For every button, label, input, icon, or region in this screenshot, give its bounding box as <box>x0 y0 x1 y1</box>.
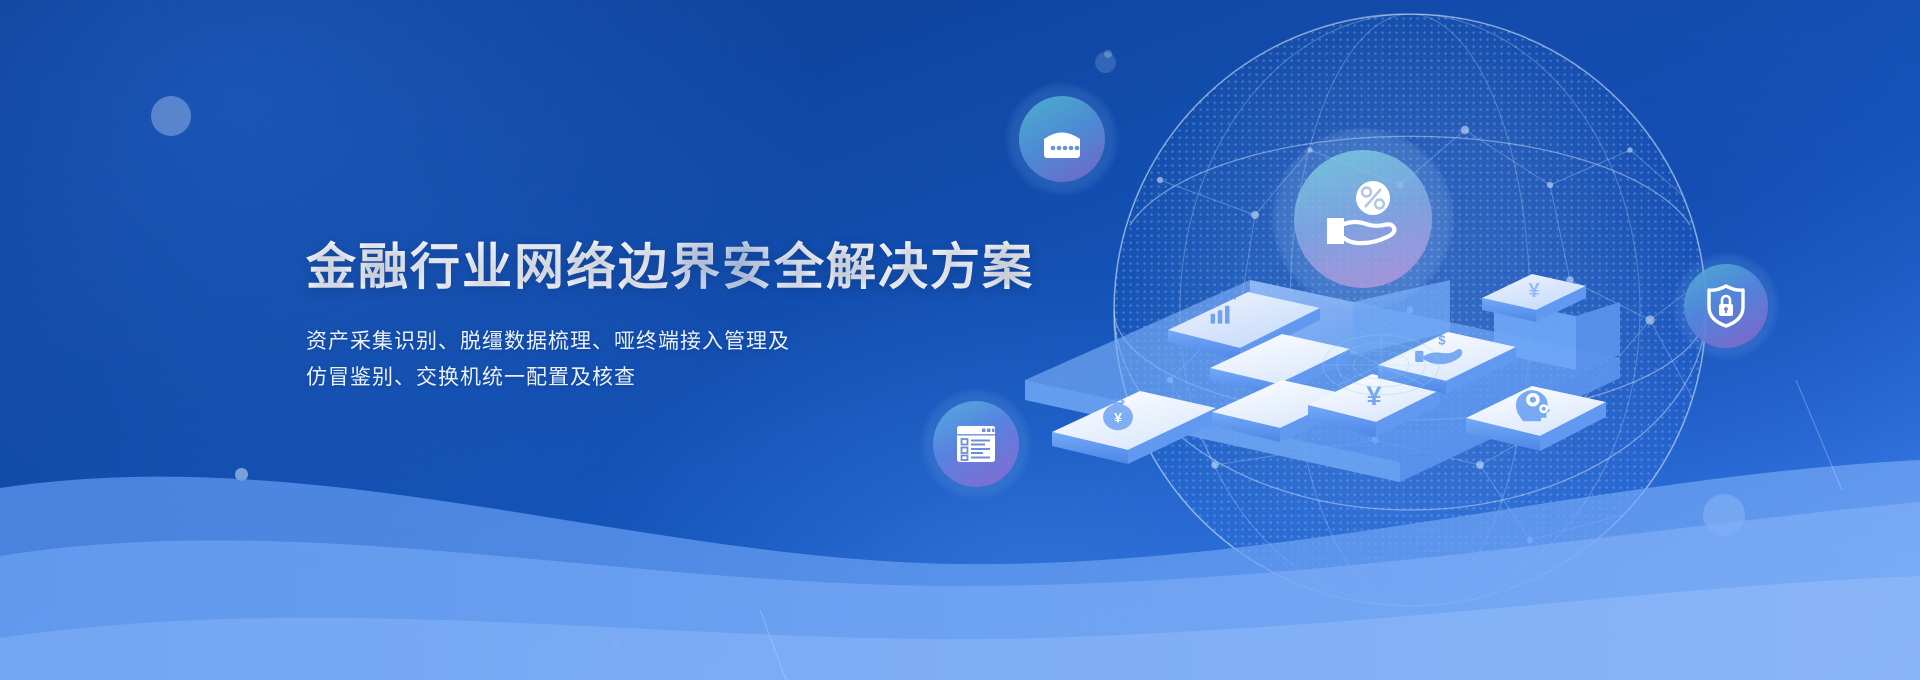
shield-lock-icon <box>1701 280 1751 332</box>
hand-percent-icon <box>1317 176 1409 262</box>
hand-percent-badge <box>1272 128 1454 310</box>
router-switch-icon <box>1034 111 1090 167</box>
bokeh-circle-1 <box>151 96 191 136</box>
hero-banner: ¥ <box>0 0 1920 680</box>
bokeh-circle-5 <box>1104 50 1112 58</box>
document-list-icon <box>949 417 1003 471</box>
router-switch-badge <box>1005 82 1119 196</box>
page-title: 金融行业网络边界安全解决方案 <box>306 236 1066 298</box>
banner-subtitle: 资产采集识别、脱缰数据梳理、哑终端接入管理及 仿冒鉴别、交换机统一配置及核查 <box>306 324 1066 396</box>
shield-lock-badge <box>1672 252 1780 360</box>
subtitle-line-1: 资产采集识别、脱缰数据梳理、哑终端接入管理及 <box>306 324 1066 360</box>
svg-text:¥: ¥ <box>1528 280 1540 302</box>
banner-copy: 金融行业网络边界安全解决方案 资产采集识别、脱缰数据梳理、哑终端接入管理及 仿冒… <box>306 236 1066 396</box>
subtitle-line-2: 仿冒鉴别、交换机统一配置及核查 <box>306 360 1066 396</box>
